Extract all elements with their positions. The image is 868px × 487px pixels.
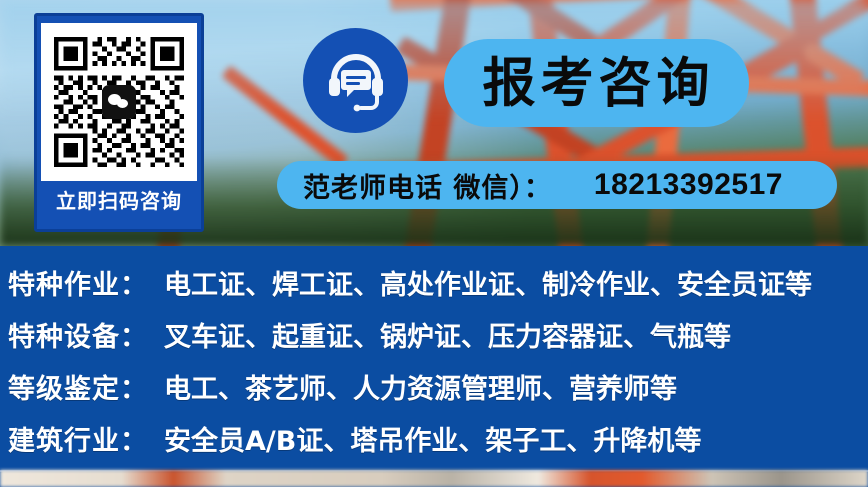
category-name: 等级鉴定： <box>8 364 148 416</box>
category-name: 建筑行业： <box>8 416 148 468</box>
qr-card-label: 立即扫码咨询 <box>56 186 182 216</box>
qr-code-card[interactable]: 立即扫码咨询 <box>34 13 204 232</box>
qr-code-icon <box>49 32 189 172</box>
contact-phone-number[interactable]: 18213392517 <box>594 168 783 202</box>
certificate-category-list: 特种作业： 电工证、焊工证、高处作业证、制冷作业、安全员证等 特种设备： 叉车证… <box>0 246 868 470</box>
category-items: 叉车证、起重证、锅炉证、压力容器证、气瓶等 <box>164 312 731 364</box>
category-name: 特种作业： <box>8 260 148 312</box>
wechat-icon <box>102 85 136 119</box>
category-items: 电工、茶艺师、人力资源管理师、营养师等 <box>164 364 677 416</box>
contact-label: 范老师电话 微信）： <box>303 166 552 205</box>
headset-support-badge <box>303 28 408 133</box>
contact-phone-pill[interactable]: 范老师电话 微信）： 18213392517 <box>277 161 837 209</box>
qr-code-frame <box>41 23 197 181</box>
category-items: 电工证、焊工证、高处作业证、制冷作业、安全员证等 <box>164 260 812 312</box>
category-row: 等级鉴定： 电工、茶艺师、人力资源管理师、营养师等 <box>8 364 868 416</box>
category-row: 建筑行业： 安全员A/B证、塔吊作业、架子工、升降机等 <box>8 416 868 468</box>
title-pill: 报考咨询 <box>444 39 749 127</box>
background-photo-crane: 立即扫码咨询 报考咨询 范老师电话 微信）： 18213392517 <box>0 0 868 246</box>
category-row: 特种作业： 电工证、焊工证、高处作业证、制冷作业、安全员证等 <box>8 260 868 312</box>
category-name: 特种设备： <box>8 312 148 364</box>
category-items: 安全员A/B证、塔吊作业、架子工、升降机等 <box>164 416 701 468</box>
headset-support-icon <box>325 50 387 112</box>
advertisement-poster: 立即扫码咨询 报考咨询 范老师电话 微信）： 18213392517 <box>0 0 868 487</box>
bottom-photo-sliver <box>0 470 868 487</box>
poster-title: 报考咨询 <box>479 57 715 110</box>
category-row: 特种设备： 叉车证、起重证、锅炉证、压力容器证、气瓶等 <box>8 312 868 364</box>
